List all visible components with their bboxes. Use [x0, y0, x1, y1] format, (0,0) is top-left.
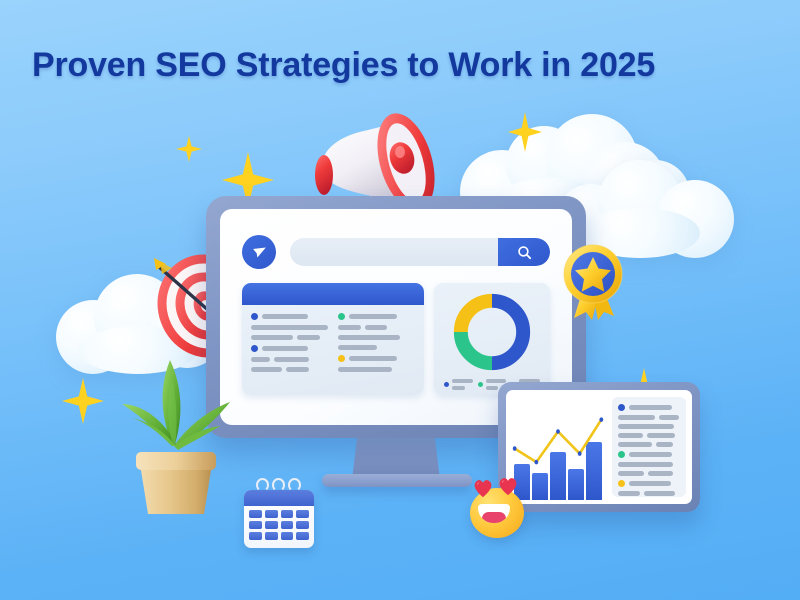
donut-chart	[442, 291, 542, 373]
bullet-dot	[618, 404, 625, 411]
list-item	[618, 480, 680, 487]
calendar-day-cell	[281, 532, 294, 540]
text-placeholder-bar	[338, 335, 400, 340]
text-placeholder-bar	[338, 345, 377, 350]
donut-chart-svg	[451, 291, 533, 373]
list-item	[618, 462, 680, 467]
calendar-day-cell	[281, 510, 294, 518]
text-placeholder-bar	[618, 462, 673, 467]
list-item	[618, 415, 680, 420]
list-item	[618, 404, 680, 411]
legend-label-bar	[452, 386, 465, 390]
text-placeholder-bar	[251, 367, 282, 372]
text-placeholder-bar	[644, 491, 675, 496]
list-item	[618, 491, 680, 496]
donut-segment-0	[492, 301, 523, 363]
calendar-day-cell	[265, 521, 278, 529]
text-placeholder-bar	[618, 424, 674, 429]
text-placeholder-bar	[629, 405, 672, 410]
text-placeholder-bar	[656, 442, 673, 447]
calendar-grid	[249, 510, 309, 540]
list-item	[618, 451, 680, 458]
text-placeholder-bar	[262, 314, 308, 319]
list-item	[338, 367, 415, 372]
card-header-bar	[242, 283, 424, 305]
list-item	[338, 345, 415, 350]
search-input[interactable]	[290, 238, 550, 266]
text-placeholder-bar	[618, 491, 640, 496]
page-title: Proven SEO Strategies to Work in 2025	[32, 46, 655, 85]
calendar-day-cell	[249, 510, 262, 518]
calendar-day-cell	[265, 532, 278, 540]
bullet-dot	[618, 480, 625, 487]
calendar-day-cell	[249, 532, 262, 540]
list-item	[338, 313, 415, 320]
monitor-stand-base	[322, 474, 472, 487]
text-placeholder-bar	[338, 325, 361, 330]
tablet-screen	[506, 390, 692, 504]
list-item	[251, 367, 328, 372]
sparkle-icon	[176, 136, 202, 162]
emoji-mouth	[478, 504, 510, 523]
list-item	[618, 471, 680, 476]
calendar-icon	[240, 476, 318, 548]
list-item	[338, 335, 415, 340]
bullet-dot	[251, 313, 258, 320]
text-placeholder-bar	[618, 471, 644, 476]
sparkle-icon	[62, 378, 104, 424]
text-placeholder-bar	[618, 433, 643, 438]
card-column-1	[338, 313, 415, 372]
heart-icon	[497, 476, 519, 496]
calendar-day-cell	[249, 521, 262, 529]
calendar-day-cell	[265, 510, 278, 518]
calendar-day-cell	[296, 532, 309, 540]
trend-point-2	[556, 429, 560, 434]
trend-point-0	[513, 446, 517, 451]
text-placeholder-bar	[297, 335, 320, 340]
text-placeholder-bar	[629, 452, 672, 457]
text-placeholder-bar	[251, 335, 293, 340]
text-placeholder-bar	[618, 415, 655, 420]
search-button[interactable]	[498, 238, 550, 266]
list-item	[251, 345, 328, 352]
bullet-dot	[338, 313, 345, 320]
calendar-day-cell	[281, 521, 294, 529]
search-bar[interactable]	[242, 235, 550, 269]
search-icon	[516, 244, 533, 261]
card-columns	[242, 305, 424, 380]
text-placeholder-bar	[618, 442, 652, 447]
text-placeholder-bar	[274, 357, 309, 362]
calendar-day-cell	[296, 521, 309, 529]
text-placeholder-bar	[629, 481, 671, 486]
list-item	[338, 325, 415, 330]
text-placeholder-bar	[647, 433, 675, 438]
list-item	[338, 355, 415, 362]
legend-dot	[444, 382, 449, 387]
potted-plant-icon	[112, 352, 240, 516]
donut-segment-1	[461, 332, 492, 363]
list-item	[618, 424, 680, 429]
text-placeholder-bar	[251, 325, 328, 330]
text-placeholder-bar	[349, 314, 397, 319]
donut-segment-2	[461, 301, 492, 332]
donut-chart-card	[434, 283, 550, 395]
list-item	[618, 442, 680, 447]
heart-icon	[472, 478, 494, 498]
text-placeholder-bar	[286, 367, 309, 372]
heart-eyes-emoji-icon	[464, 476, 530, 538]
legend-label-bar	[486, 379, 507, 383]
bullet-dot	[338, 355, 345, 362]
list-item	[618, 433, 680, 438]
list-item	[251, 357, 328, 362]
trend-point-1	[534, 460, 538, 465]
text-placeholder-bar	[251, 357, 270, 362]
illustration-canvas: Proven SEO Strategies to Work in 2025	[0, 0, 800, 600]
legend-label-bar	[452, 379, 473, 383]
text-placeholder-bar	[262, 346, 308, 351]
text-placeholder-bar	[648, 471, 673, 476]
list-item	[251, 325, 328, 330]
paper-plane-icon[interactable]	[242, 235, 276, 269]
text-placeholder-bar	[349, 356, 397, 361]
legend-item-0	[444, 379, 473, 390]
tablet-doc-panel	[612, 397, 686, 497]
trend-point-3	[578, 451, 582, 456]
list-item	[251, 313, 328, 320]
text-placeholder-bar	[365, 325, 387, 330]
card-column-0	[251, 313, 328, 372]
legend-dot	[478, 382, 483, 387]
content-list-card	[242, 283, 424, 395]
bullet-dot	[618, 451, 625, 458]
legend-label-bar	[486, 386, 499, 390]
award-rosette-icon	[558, 242, 628, 322]
text-placeholder-bar	[659, 415, 679, 420]
trend-line	[515, 420, 602, 462]
text-placeholder-bar	[338, 367, 392, 372]
bullet-dot	[251, 345, 258, 352]
list-item	[251, 335, 328, 340]
calendar-day-cell	[296, 510, 309, 518]
trend-point-4	[599, 417, 603, 422]
